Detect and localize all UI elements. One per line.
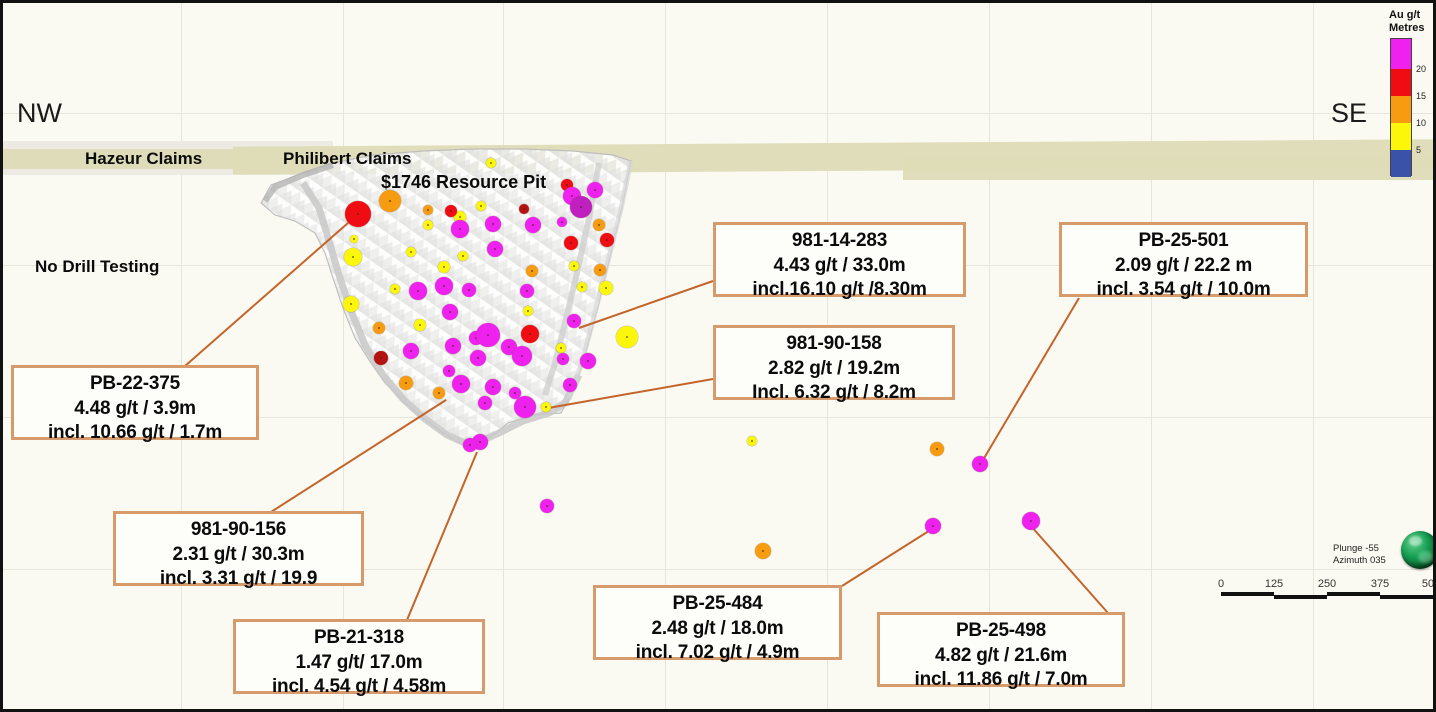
drill-intercept-dot[interactable] xyxy=(563,378,577,392)
scale-label-375: 375 xyxy=(1371,578,1389,590)
callout-leader-line xyxy=(979,297,1080,465)
callout-hole-id: PB-25-484 xyxy=(606,592,829,617)
drill-collar-marker xyxy=(527,310,529,312)
drill-intercept-dot[interactable] xyxy=(374,351,388,365)
drill-collar-marker xyxy=(587,360,589,362)
drill-collar-marker xyxy=(751,440,753,442)
drill-collar-marker xyxy=(492,386,494,388)
drill-intercept-dot[interactable] xyxy=(557,353,569,365)
drill-intercept-dot[interactable] xyxy=(521,325,539,343)
geology-section-figure: NW SE Hazeur Claims Philibert Claims $17… xyxy=(0,0,1436,712)
drill-intercept-dot[interactable] xyxy=(435,277,453,295)
drill-collar-marker xyxy=(508,346,510,348)
drill-intercept-dot[interactable] xyxy=(557,217,567,227)
drill-intercept-dot[interactable] xyxy=(433,387,445,399)
drill-intercept-dot[interactable] xyxy=(379,190,401,212)
callout-interval: 4.82 g/t / 21.6m xyxy=(890,644,1112,669)
drill-intercept-dot[interactable] xyxy=(925,518,941,534)
gridline-horizontal xyxy=(3,113,1433,114)
drill-intercept-dot[interactable] xyxy=(569,261,579,271)
drill-intercept-dot[interactable] xyxy=(541,402,551,412)
drill-intercept-dot[interactable] xyxy=(445,338,461,354)
direction-label-nw: NW xyxy=(17,98,62,129)
callout-included-interval: incl. 10.66 g/t / 1.7m xyxy=(24,421,246,446)
callout-included-interval: incl. 3.31 g/t / 19.9 xyxy=(126,567,351,592)
drill-intercept-dot[interactable] xyxy=(599,281,613,295)
drill-collar-marker xyxy=(479,441,481,443)
callout-hole-id: PB-25-498 xyxy=(890,619,1112,644)
sphere-highlight xyxy=(1409,536,1422,546)
scale-seg-1 xyxy=(1221,592,1274,596)
drill-intercept-dot[interactable] xyxy=(406,247,416,257)
drill-intercept-dot[interactable] xyxy=(343,296,359,312)
sphere-highlight-secondary xyxy=(1418,551,1433,563)
drill-collar-marker xyxy=(571,195,573,197)
callout-hole-id: PB-21-318 xyxy=(246,626,472,651)
gridline-vertical xyxy=(503,3,504,709)
callout-interval: 2.82 g/t / 19.2m xyxy=(726,357,942,382)
callout-leader-line xyxy=(841,528,932,587)
callout-interval: 2.31 g/t / 30.3m xyxy=(126,543,351,568)
legend-seg-10-15 xyxy=(1391,96,1411,123)
drill-intercept-dot[interactable] xyxy=(485,379,501,395)
drill-collar-marker xyxy=(532,224,534,226)
drill-collar-marker xyxy=(443,285,445,287)
drill-collar-marker xyxy=(580,206,582,208)
callout-included-interval: incl. 4.54 g/t / 4.58m xyxy=(246,675,472,700)
drill-intercept-dot[interactable] xyxy=(594,264,606,276)
drill-intercept-dot[interactable] xyxy=(409,282,427,300)
drill-intercept-dot[interactable] xyxy=(350,235,358,243)
legend-seg-15-20 xyxy=(1391,69,1411,96)
legend-tick-5: 5 xyxy=(1416,145,1421,155)
drill-collar-marker xyxy=(487,334,489,336)
legend-title: Au g/t Metres xyxy=(1387,3,1433,38)
callout-leader-line xyxy=(406,452,478,621)
drill-collar-marker xyxy=(448,370,450,372)
label-resource-pit: $1746 Resource Pit xyxy=(381,172,546,193)
drill-collar-marker xyxy=(419,324,421,326)
drill-intercept-dot[interactable] xyxy=(487,241,503,257)
drill-collar-marker xyxy=(569,384,571,386)
label-philibert-claims: Philibert Claims xyxy=(283,149,411,169)
label-no-drill-testing: No Drill Testing xyxy=(35,257,159,277)
drill-intercept-dot[interactable] xyxy=(423,220,433,230)
drill-intercept-dot[interactable] xyxy=(930,442,944,456)
scale-label-125: 125 xyxy=(1265,578,1283,590)
drill-collar-marker xyxy=(350,303,352,305)
drill-collar-marker xyxy=(529,333,531,335)
drill-intercept-dot[interactable] xyxy=(580,353,596,369)
scale-label-250: 250 xyxy=(1318,578,1336,590)
drill-intercept-dot[interactable] xyxy=(463,438,477,452)
drill-intercept-dot[interactable] xyxy=(519,204,529,214)
callout-hole-id: PB-22-375 xyxy=(24,372,246,397)
drill-intercept-dot[interactable] xyxy=(344,248,362,266)
drill-intercept-dot[interactable] xyxy=(373,322,385,334)
drill-collar-marker xyxy=(524,406,526,408)
drill-collar-marker xyxy=(566,184,568,186)
color-legend: Au g/t Metres 20 15 10 5 xyxy=(1387,3,1433,176)
drill-collar-marker xyxy=(477,357,479,359)
drill-collar-marker xyxy=(459,228,461,230)
drill-intercept-dot[interactable] xyxy=(462,283,476,297)
scale-seg-2 xyxy=(1274,595,1327,599)
drill-intercept-dot[interactable] xyxy=(600,233,614,247)
drill-collar-marker xyxy=(594,189,596,191)
drill-intercept-dot[interactable] xyxy=(564,236,578,250)
drill-intercept-dot[interactable] xyxy=(755,543,771,559)
drill-collar-marker xyxy=(449,311,451,313)
drill-intercept-dot[interactable] xyxy=(345,201,371,227)
callout-interval: 4.43 g/t / 33.0m xyxy=(726,254,953,279)
drill-collar-marker xyxy=(389,200,391,202)
drill-collar-marker xyxy=(626,336,628,338)
azimuth-value: Azimuth 035 xyxy=(1333,555,1386,567)
drill-hole-callout[interactable]: PB-25-4842.48 g/t / 18.0mincl. 7.02 g/t … xyxy=(593,585,842,660)
callout-hole-id: 981-90-156 xyxy=(126,518,351,543)
legend-tick-20: 20 xyxy=(1416,64,1426,74)
drill-intercept-dot[interactable] xyxy=(486,158,496,168)
drill-intercept-dot[interactable] xyxy=(414,319,426,331)
drill-collar-marker xyxy=(469,444,471,446)
drill-collar-marker xyxy=(438,392,440,394)
callout-included-interval: incl. 11.86 g/t / 7.0m xyxy=(890,668,1112,693)
drill-intercept-dot[interactable] xyxy=(476,201,486,211)
orientation-sphere-icon xyxy=(1401,531,1436,569)
drill-collar-marker xyxy=(450,210,452,212)
drill-collar-marker xyxy=(460,383,462,385)
drill-collar-marker xyxy=(523,208,525,210)
drill-collar-marker xyxy=(357,213,359,215)
scale-bar-segments xyxy=(1219,592,1436,599)
drill-collar-marker xyxy=(562,358,564,360)
drill-collar-marker xyxy=(526,290,528,292)
drill-intercept-dot[interactable] xyxy=(526,265,538,277)
drill-intercept-dot[interactable] xyxy=(451,220,469,238)
drill-collar-marker xyxy=(394,288,396,290)
callout-hole-id: 981-90-158 xyxy=(726,332,942,357)
drill-intercept-dot[interactable] xyxy=(577,282,587,292)
drill-intercept-dot[interactable] xyxy=(747,436,757,446)
drill-hole-callout[interactable]: PB-25-5012.09 g/t / 22.2 mincl. 3.54 g/t… xyxy=(1059,222,1308,297)
callout-included-interval: incl. 7.02 g/t / 4.9m xyxy=(606,641,829,666)
drill-collar-marker xyxy=(410,251,412,253)
drill-collar-marker xyxy=(417,290,419,292)
drill-intercept-dot[interactable] xyxy=(423,205,433,215)
plunge-value: Plunge -55 xyxy=(1333,543,1386,555)
legend-title-line1: Au g/t xyxy=(1389,9,1420,21)
drill-hole-callout[interactable]: 981-14-2834.43 g/t / 33.0mincl.16.10 g/t… xyxy=(713,222,966,297)
drill-intercept-dot[interactable] xyxy=(520,284,534,298)
drill-collar-marker xyxy=(405,382,407,384)
callout-hole-id: 981-14-283 xyxy=(726,229,953,254)
drill-collar-marker xyxy=(546,505,548,507)
drill-collar-marker xyxy=(606,239,608,241)
drill-intercept-dot[interactable] xyxy=(593,219,605,231)
gridline-vertical xyxy=(1151,3,1152,709)
callout-included-interval: incl. 3.54 g/t / 10.0m xyxy=(1072,278,1295,303)
drill-collar-marker xyxy=(932,525,934,527)
drill-hole-callout[interactable]: PB-25-4984.82 g/t / 21.6mincl. 11.86 g/t… xyxy=(877,612,1125,687)
drill-collar-marker xyxy=(494,248,496,250)
drill-hole-callout[interactable]: PB-21-3181.47 g/t/ 17.0mincl. 4.54 g/t /… xyxy=(233,619,485,694)
scale-label-0: 0 xyxy=(1218,578,1224,590)
drill-intercept-dot[interactable] xyxy=(514,396,536,418)
drill-collar-marker xyxy=(605,287,607,289)
drill-intercept-dot[interactable] xyxy=(972,456,988,472)
drill-intercept-dot[interactable] xyxy=(478,396,492,410)
drill-intercept-dot[interactable] xyxy=(1022,512,1040,530)
drill-intercept-dot[interactable] xyxy=(442,304,458,320)
direction-label-se: SE xyxy=(1331,98,1367,129)
drill-intercept-dot[interactable] xyxy=(399,376,413,390)
scale-seg-3 xyxy=(1327,592,1380,596)
drill-collar-marker xyxy=(573,265,575,267)
gridline-vertical xyxy=(181,3,182,709)
drill-collar-marker xyxy=(762,550,764,552)
drill-collar-marker xyxy=(443,266,445,268)
drill-intercept-dot[interactable] xyxy=(540,499,554,513)
drill-collar-marker xyxy=(410,350,412,352)
drill-collar-marker xyxy=(545,406,547,408)
callout-included-interval: Incl. 6.32 g/t / 8.2m xyxy=(726,381,942,406)
drill-intercept-dot[interactable] xyxy=(523,306,533,316)
callout-interval: 2.09 g/t / 22.2 m xyxy=(1072,254,1295,279)
drill-intercept-dot[interactable] xyxy=(616,326,638,348)
legend-tick-10: 10 xyxy=(1416,118,1426,128)
scale-seg-4 xyxy=(1380,595,1433,599)
drill-collar-marker xyxy=(378,327,380,329)
gridline-vertical xyxy=(989,3,990,709)
drill-intercept-dot[interactable] xyxy=(525,217,541,233)
drill-collar-marker xyxy=(380,357,382,359)
drill-collar-marker xyxy=(561,221,563,223)
drill-collar-marker xyxy=(459,216,461,218)
drill-intercept-dot[interactable] xyxy=(476,323,500,347)
legend-seg-above20 xyxy=(1391,39,1411,69)
gridline-vertical xyxy=(343,3,344,709)
drill-collar-marker xyxy=(570,242,572,244)
drill-collar-marker xyxy=(427,209,429,211)
drill-collar-marker xyxy=(1030,520,1032,522)
drill-intercept-dot[interactable] xyxy=(438,261,450,273)
drill-intercept-dot[interactable] xyxy=(443,365,455,377)
drill-hole-callout[interactable]: 981-90-1582.82 g/t / 19.2mIncl. 6.32 g/t… xyxy=(713,325,955,400)
drill-collar-marker xyxy=(452,345,454,347)
drill-collar-marker xyxy=(514,392,516,394)
legend-colorbar: 20 15 10 5 xyxy=(1390,38,1412,176)
drill-collar-marker xyxy=(560,347,562,349)
drill-hole-callout[interactable]: 981-90-1562.31 g/t / 30.3mincl. 3.31 g/t… xyxy=(113,511,364,586)
drill-collar-marker xyxy=(599,269,601,271)
drill-collar-marker xyxy=(581,286,583,288)
drill-intercept-dot[interactable] xyxy=(587,182,603,198)
drill-intercept-dot[interactable] xyxy=(556,343,566,353)
drill-intercept-dot[interactable] xyxy=(458,251,468,261)
drill-collar-marker xyxy=(979,463,981,465)
drill-intercept-dot[interactable] xyxy=(567,314,581,328)
drill-intercept-dot[interactable] xyxy=(485,216,501,232)
label-hazeur-claims: Hazeur Claims xyxy=(85,149,202,169)
drill-intercept-dot[interactable] xyxy=(570,196,592,218)
drill-collar-marker xyxy=(480,205,482,207)
legend-seg-5-10 xyxy=(1391,123,1411,150)
callout-interval: 2.48 g/t / 18.0m xyxy=(606,617,829,642)
gridline-vertical xyxy=(1313,3,1314,709)
drill-intercept-dot[interactable] xyxy=(403,343,419,359)
drill-collar-marker xyxy=(936,448,938,450)
drill-collar-marker xyxy=(492,223,494,225)
scale-label-500: 500 xyxy=(1422,578,1436,590)
drill-intercept-dot[interactable] xyxy=(470,350,486,366)
callout-included-interval: incl.16.10 g/t /8.30m xyxy=(726,278,953,303)
drill-collar-marker xyxy=(352,256,354,258)
scale-bar-ticks: 0 125 250 375 500 xyxy=(1219,578,1436,592)
drill-intercept-dot[interactable] xyxy=(390,284,400,294)
callout-interval: 1.47 g/t/ 17.0m xyxy=(246,651,472,676)
drill-collar-marker xyxy=(598,224,600,226)
drill-collar-marker xyxy=(468,289,470,291)
drill-intercept-dot[interactable] xyxy=(452,375,470,393)
orientation-readout: Plunge -55 Azimuth 035 xyxy=(1333,543,1386,567)
legend-tick-15: 15 xyxy=(1416,91,1426,101)
drill-intercept-dot[interactable] xyxy=(512,346,532,366)
legend-seg-below5 xyxy=(1391,150,1411,177)
drill-intercept-dot[interactable] xyxy=(445,205,457,217)
callout-interval: 4.48 g/t / 3.9m xyxy=(24,397,246,422)
legend-title-line2: Metres xyxy=(1389,22,1424,34)
callout-leader-line xyxy=(184,222,348,366)
callout-hole-id: PB-25-501 xyxy=(1072,229,1295,254)
drill-collar-marker xyxy=(521,355,523,357)
drill-collar-marker xyxy=(427,224,429,226)
drill-hole-callout[interactable]: PB-22-3754.48 g/t / 3.9mincl. 10.66 g/t … xyxy=(11,365,259,440)
drill-collar-marker xyxy=(353,238,355,240)
drill-collar-marker xyxy=(484,402,486,404)
drill-collar-marker xyxy=(573,320,575,322)
drill-collar-marker xyxy=(462,255,464,257)
drill-collar-marker xyxy=(531,270,533,272)
scale-bar: 0 125 250 375 500 xyxy=(1219,578,1436,599)
drill-collar-marker xyxy=(490,162,492,164)
topography-band-right xyxy=(903,158,1436,180)
